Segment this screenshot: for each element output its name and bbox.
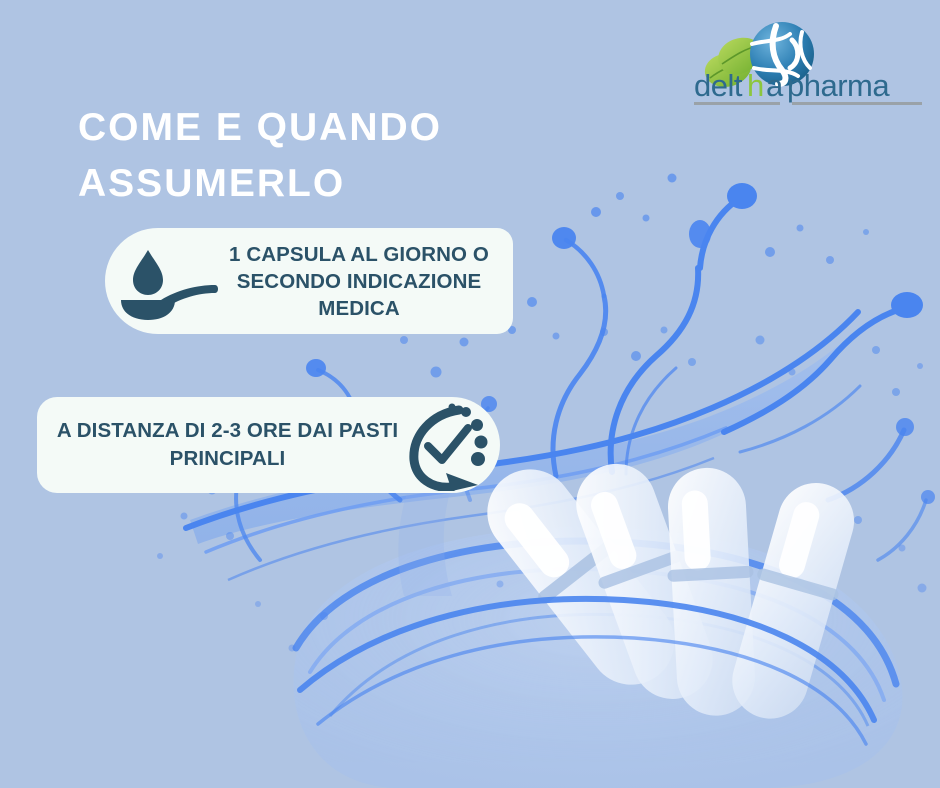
info-card-timing-text: A DISTANZA DI 2-3 ORE DAI PASTI PRINCIPA… xyxy=(53,417,402,473)
svg-text:a: a xyxy=(766,68,784,103)
info-card-dose[interactable]: 1 CAPSULA AL GIORNO O SECONDO INDICAZION… xyxy=(105,228,513,334)
svg-text:delt: delt xyxy=(694,68,743,103)
water-pool xyxy=(294,527,903,788)
page-title-line-2: ASSUMERLO xyxy=(78,156,598,212)
brand-logo[interactable]: delt h a pharma xyxy=(690,18,926,110)
clock-check-arrow-icon xyxy=(402,399,494,491)
svg-text:h: h xyxy=(747,68,764,103)
svg-text:pharma: pharma xyxy=(787,68,890,103)
brand-wordmark: delt h a pharma xyxy=(694,68,890,103)
poster-canvas: delt h a pharma COME E QUANDO ASSUMERLO xyxy=(0,0,940,788)
info-card-timing[interactable]: A DISTANZA DI 2-3 ORE DAI PASTI PRINCIPA… xyxy=(37,397,500,493)
spoon-drop-icon xyxy=(115,242,219,320)
wordmark-underline xyxy=(694,102,922,105)
capsules-group xyxy=(467,450,867,729)
info-card-dose-text: 1 CAPSULA AL GIORNO O SECONDO INDICAZION… xyxy=(219,241,499,322)
page-title-line-1: COME E QUANDO xyxy=(78,100,598,156)
page-title: COME E QUANDO ASSUMERLO xyxy=(78,100,598,212)
